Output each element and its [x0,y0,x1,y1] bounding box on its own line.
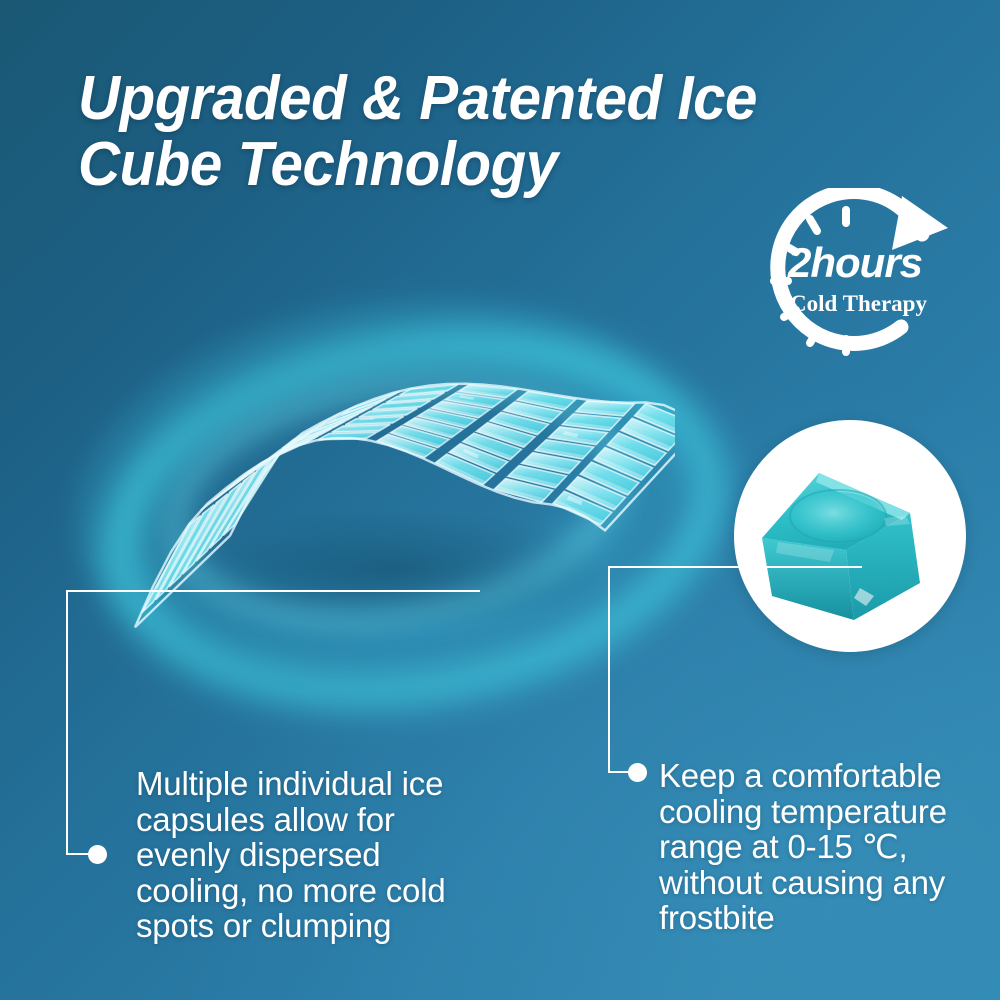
page-title: Upgraded & Patented Ice Cube Technology [78,66,896,198]
badge-hours-label: 2hours [788,242,963,284]
connector-line-vertical [608,566,610,773]
connector-line-top [66,590,480,592]
callout-dot-right [628,763,647,782]
product-feature-banner: Upgraded & Patented Ice Cube Technology … [0,0,1000,1000]
callout-text-left: Multiple individual ice capsules allow f… [136,766,466,944]
connector-line-vertical [66,590,68,855]
connector-line-top [608,566,862,568]
callout-dot-left [88,845,107,864]
badge-subtitle: Cold Therapy [790,292,970,316]
cold-therapy-badge: 2hours Cold Therapy [726,188,968,356]
callout-text-right: Keep a comfortable cooling temperature r… [659,758,979,936]
